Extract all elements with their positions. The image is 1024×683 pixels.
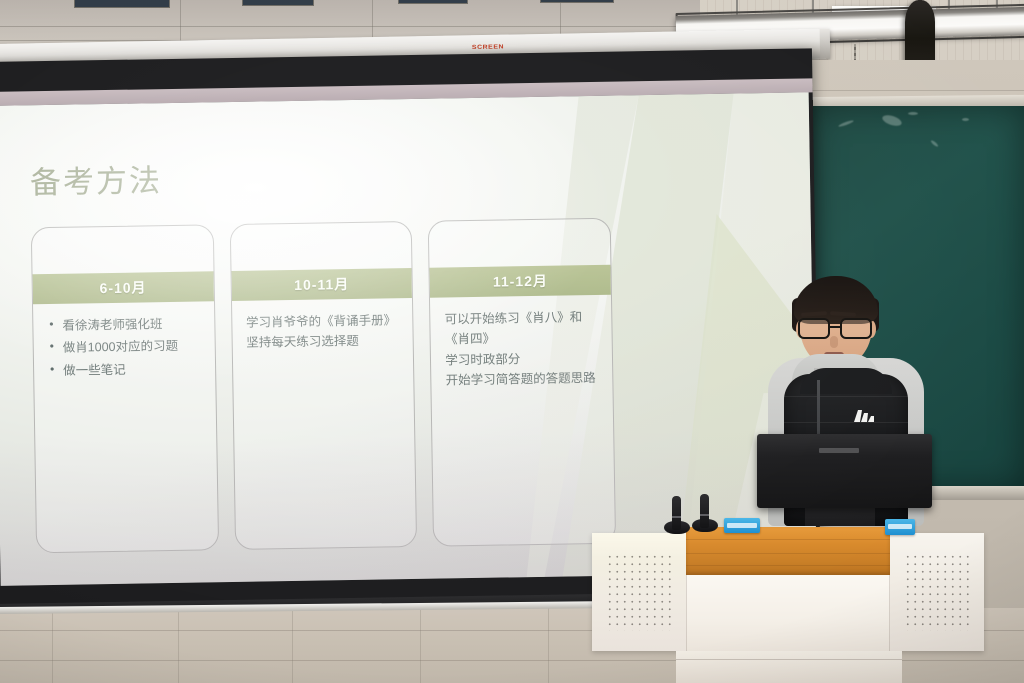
card-header-label: 11-12月 [493,271,548,292]
lectern[interactable] [592,527,984,683]
card-bullet: 做一些笔记 [48,358,205,381]
slide-surface: 备考方法 6-10月 看徐涛老师强化班 做肖1000对应的习题 做一些笔记 [0,92,817,585]
glasses-lens [840,318,872,339]
slide-cards: 6-10月 看徐涛老师强化班 做肖1000对应的习题 做一些笔记 10-11月 [31,218,616,554]
speaker-grille [904,553,970,631]
card-line: 学习肖爷爷的《背诵手册》 [246,310,403,333]
lectern-wood-panel [686,527,890,575]
desktop-monitor[interactable] [757,434,932,508]
card-header: 11-12月 [430,265,611,298]
card-bullet: 做肖1000对应的习题 [48,336,205,359]
card-body: 可以开始练习《肖八》和《肖四》 学习时政部分 开始学习简答题的答题思路 [445,307,603,391]
nose [830,336,838,348]
ceiling-vent [242,0,314,6]
glasses-lens [798,318,830,339]
ceiling-vent [74,0,170,8]
speaker-grille [606,553,672,631]
ceiling-vent [540,0,614,3]
slide-title: 备考方法 [30,155,163,202]
card-line: 开始学习简答题的答题思路 [446,368,603,391]
glasses-bridge [830,326,840,328]
slide-card: 10-11月 学习肖爷爷的《背诵手册》 坚持每天练习选择题 [229,221,417,550]
hair [794,276,878,324]
ceiling-vent [398,0,468,4]
card-header-label: 10-11月 [294,274,349,295]
three-stripe-logo-icon [852,408,876,424]
card-header: 6-10月 [33,271,214,304]
vest-collar [800,368,892,394]
lectern-front-panel [686,575,890,651]
slide-card: 6-10月 看徐涛老师强化班 做肖1000对应的习题 做一些笔记 [31,224,219,553]
card-line: 坚持每天练习选择题 [246,330,403,353]
card-bullet: 看徐涛老师强化班 [47,313,204,336]
wireless-microphone[interactable] [672,496,681,530]
lectern-base [676,651,902,683]
slide-card: 11-12月 可以开始练习《肖八》和《肖四》 学习时政部分 开始学习简答题的答题… [428,218,616,547]
card-body: 学习肖爷爷的《背诵手册》 坚持每天练习选择题 [246,310,403,353]
monitor-brand-logo [819,448,859,453]
wireless-microphone[interactable] [700,494,709,528]
blue-device-left[interactable] [724,518,760,533]
card-bullet-list: 看徐涛老师强化班 做肖1000对应的习题 做一些笔记 [47,313,205,380]
card-body: 看徐涛老师强化班 做肖1000对应的习题 做一些笔记 [47,313,205,382]
card-header: 10-11月 [231,268,412,301]
blue-device-right[interactable] [885,519,915,535]
card-line: 可以开始练习《肖八》和《肖四》 [445,307,602,350]
roller-brand-logo: SCREEN [472,44,504,51]
card-line: 学习时政部分 [445,347,602,370]
roller-end-cap [820,29,831,59]
classroom-photo: SCREEN [0,0,1024,683]
card-header-label: 6-10月 [99,277,146,298]
